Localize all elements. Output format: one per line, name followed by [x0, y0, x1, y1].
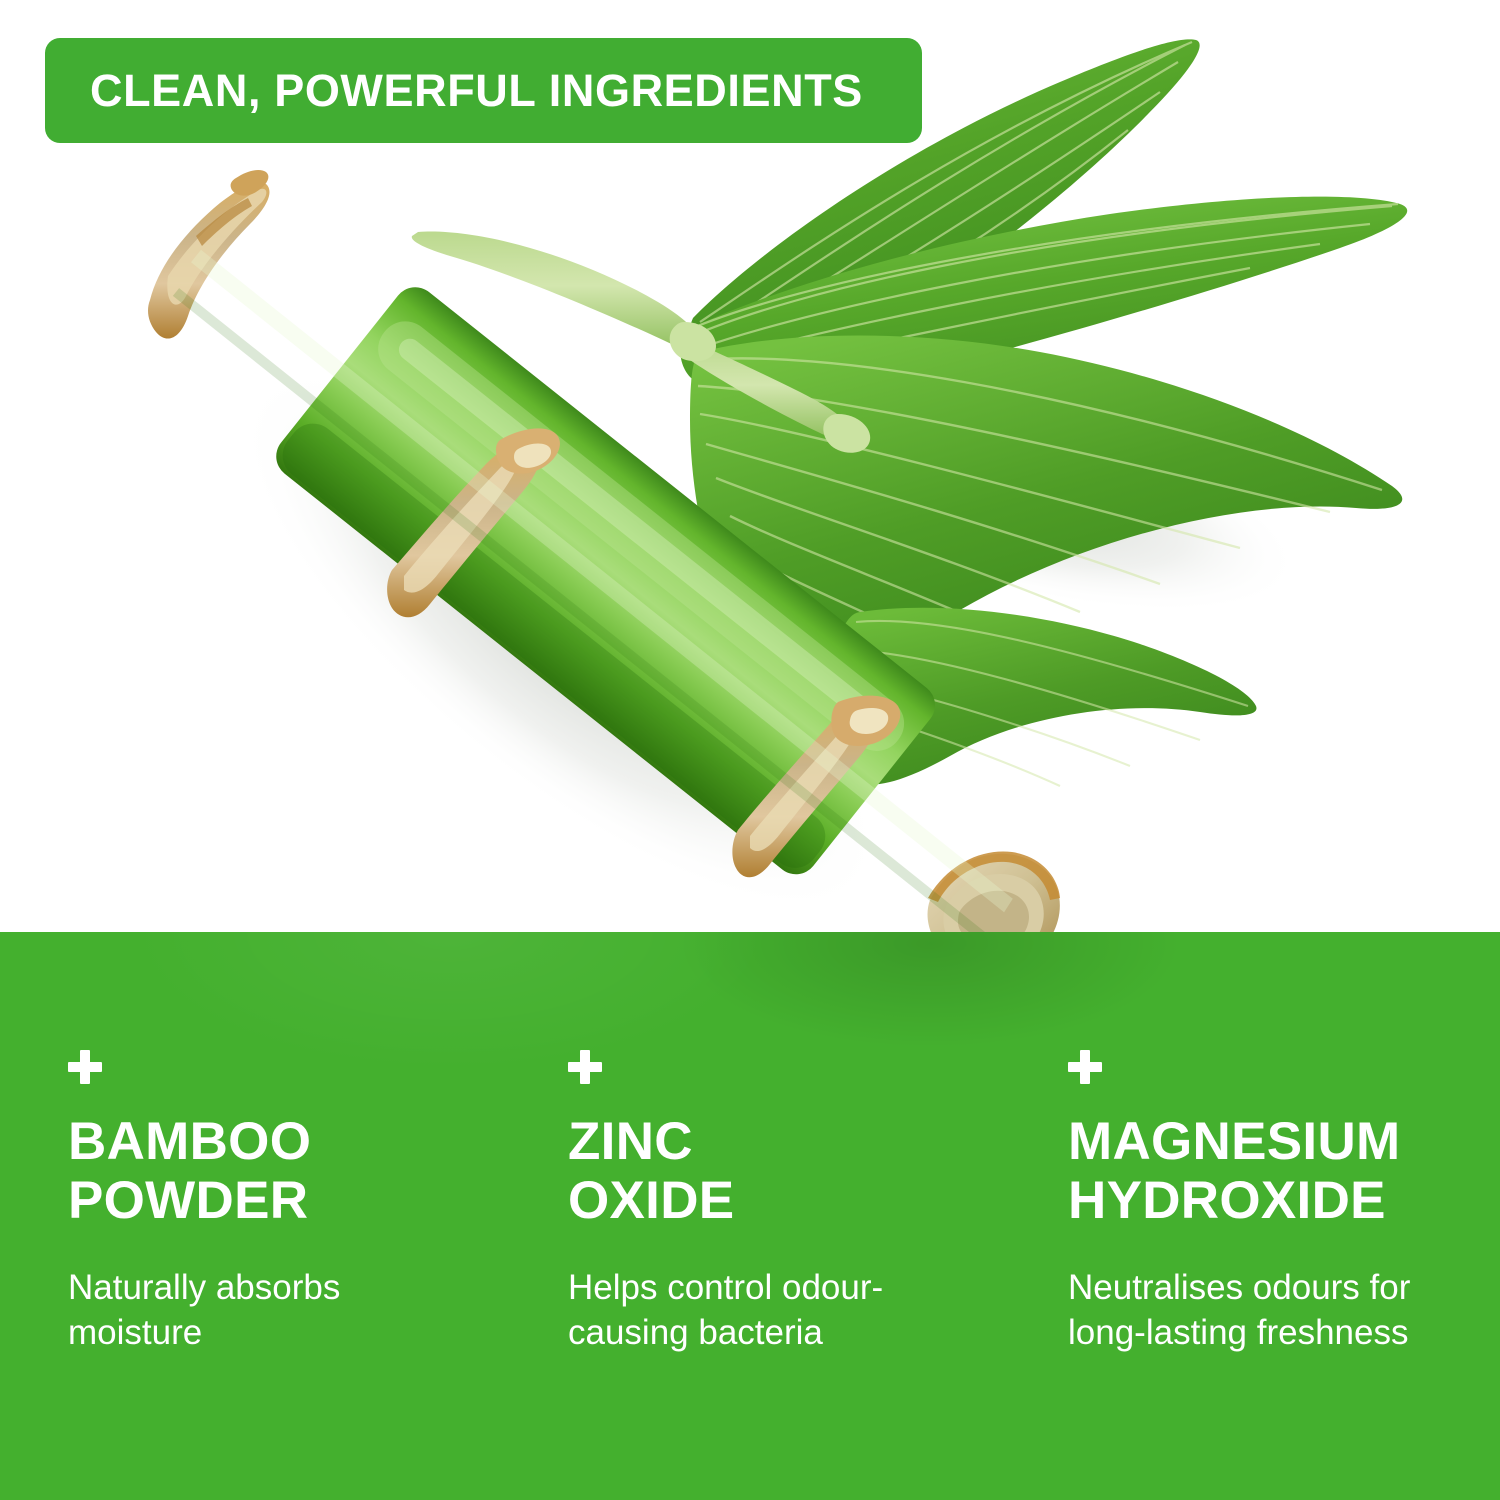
- plus-icon: [568, 1050, 602, 1084]
- header-banner: CLEAN, POWERFUL INGREDIENTS: [45, 38, 922, 143]
- bamboo-photo-area: CLEAN, POWERFUL INGREDIENTS: [0, 0, 1500, 935]
- ingredients-panel: BAMBOO POWDER Naturally absorbs moisture…: [0, 932, 1500, 1500]
- ingredient-description: Naturally absorbs moisture: [68, 1265, 448, 1356]
- ingredient-name: MAGNESIUM HYDROXIDE: [1068, 1112, 1470, 1231]
- ingredient-description: Neutralises odours for long-lasting fres…: [1068, 1265, 1448, 1356]
- ingredient-column-zinc-oxide: ZINC OXIDE Helps control odour-causing b…: [500, 932, 1000, 1356]
- ingredient-columns: BAMBOO POWDER Naturally absorbs moisture…: [0, 932, 1500, 1356]
- banner-title: CLEAN, POWERFUL INGREDIENTS: [90, 68, 863, 113]
- ingredient-column-magnesium-hydroxide: MAGNESIUM HYDROXIDE Neutralises odours f…: [1000, 932, 1500, 1356]
- ingredient-description: Helps control odour-causing bacteria: [568, 1265, 948, 1356]
- plus-icon: [68, 1050, 102, 1084]
- plus-icon: [1068, 1050, 1102, 1084]
- ingredient-name: BAMBOO POWDER: [68, 1112, 470, 1231]
- ingredient-column-bamboo-powder: BAMBOO POWDER Naturally absorbs moisture: [0, 932, 500, 1356]
- product-feature-image: CLEAN, POWERFUL INGREDIENTS BAMBOO POWDE…: [0, 0, 1500, 1500]
- ingredient-name: ZINC OXIDE: [568, 1112, 970, 1231]
